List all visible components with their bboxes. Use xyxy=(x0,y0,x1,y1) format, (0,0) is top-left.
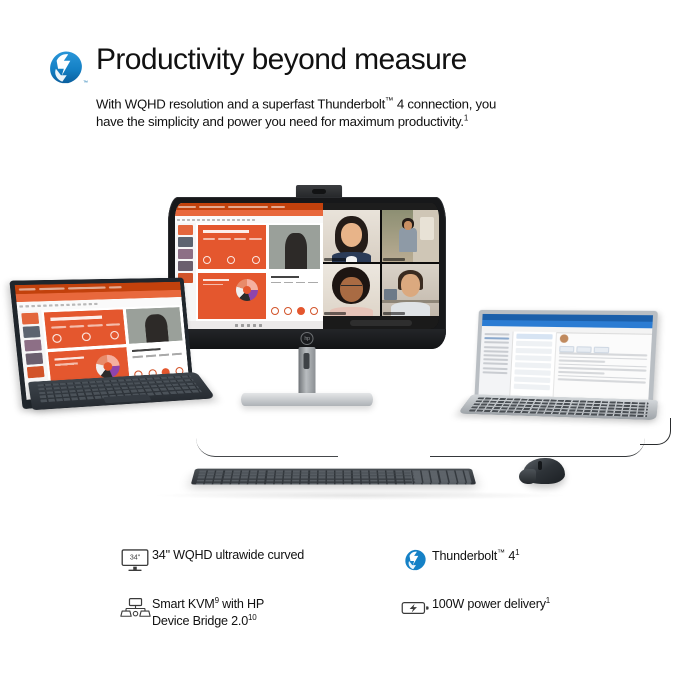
hp-logo: hp xyxy=(301,332,314,345)
feature-row: Smart KVM9 with HP Device Bridge 2.010 1… xyxy=(118,593,658,629)
slide-canvas xyxy=(198,225,320,319)
thunderbolt-logo-icon: ™ xyxy=(48,50,84,86)
monitor-shell: hp xyxy=(168,197,446,349)
curved-monitor: hp xyxy=(168,197,446,377)
slide-thumbnail xyxy=(178,225,193,235)
page-title: Productivity beyond measure xyxy=(96,44,467,75)
email-folder-pane xyxy=(478,331,513,401)
trademark-symbol: ™ xyxy=(385,95,394,105)
footnote-marker: 1 xyxy=(546,596,550,605)
dark-laptop: hp xyxy=(28,278,203,423)
app-title-bar xyxy=(175,203,323,210)
feature-item-smart-kvm: Smart KVM9 with HP Device Bridge 2.010 xyxy=(118,593,398,629)
footnote-marker: 1 xyxy=(464,114,468,123)
feature-label-part-2: with HP xyxy=(219,597,264,611)
feature-label-part-3: Device Bridge 2.0 xyxy=(152,614,248,628)
footnote-marker: 1 xyxy=(515,548,519,557)
monitor-screen xyxy=(175,203,439,329)
trademark-symbol: ™ xyxy=(497,548,505,557)
subheadline-part-3: have the simplicity and power you need f… xyxy=(96,114,464,129)
cable-desk-right xyxy=(430,438,645,457)
product-photo-stage: hp xyxy=(0,175,700,520)
participant-tile xyxy=(323,210,380,262)
feature-label-text: 100W power delivery xyxy=(432,597,546,611)
trademark-symbol: ™ xyxy=(83,80,88,86)
feature-label: 34" WQHD ultrawide curved xyxy=(152,545,304,563)
header: ™ Productivity beyond measure With WQHD … xyxy=(48,44,648,130)
footnote-marker: 10 xyxy=(248,613,257,622)
slide-block-icons xyxy=(269,273,320,319)
participant-tile xyxy=(323,264,380,316)
slide-thumbnail xyxy=(178,261,193,271)
participant-grid xyxy=(323,210,439,316)
feature-list: 34" 34" WQHD ultrawide curved Thunderbol… xyxy=(118,545,658,647)
donut-chart xyxy=(236,279,258,301)
silver-laptop xyxy=(468,310,658,430)
thunderbolt-icon xyxy=(398,545,432,575)
slide-thumbnail xyxy=(178,237,193,247)
subheadline-part-2: 4 connection, you xyxy=(394,96,497,111)
monitor-stand-base xyxy=(241,393,373,406)
slide-photo xyxy=(269,225,320,269)
feature-item-power-delivery: 100W power delivery1 xyxy=(398,593,648,629)
email-message-list xyxy=(510,332,557,403)
laptop-trackpad xyxy=(103,394,151,403)
feature-label-part-1: Smart KVM xyxy=(152,597,215,611)
laptop-screen xyxy=(478,314,653,408)
feature-label: Thunderbolt™ 41 xyxy=(432,545,519,565)
keyboard-numpad xyxy=(413,470,472,482)
feature-label-part-1: Thunderbolt xyxy=(432,549,497,563)
subheadline-part-1: With WQHD resolution and a superfast Thu… xyxy=(96,96,385,111)
feature-label: 100W power delivery1 xyxy=(432,593,550,613)
slide-block-headline xyxy=(198,225,266,269)
monitor-34-inch-icon: 34" xyxy=(118,545,152,575)
ground-shadow xyxy=(150,491,570,500)
feature-label: Smart KVM9 with HP Device Bridge 2.010 xyxy=(152,593,264,629)
feature-item-thunderbolt: Thunderbolt™ 41 xyxy=(398,545,648,575)
feature-label-part-2: 4 xyxy=(505,549,515,563)
wireless-keyboard xyxy=(191,469,476,485)
feature-item-34-wqhd: 34" 34" WQHD ultrawide curved xyxy=(118,545,398,575)
feature-row: 34" 34" WQHD ultrawide curved Thunderbol… xyxy=(118,545,658,575)
ergonomic-mouse xyxy=(519,458,567,489)
video-call-controls xyxy=(323,316,439,329)
video-conference-app xyxy=(323,203,439,329)
smart-kvm-icon xyxy=(118,593,152,623)
monitor-stand-neck xyxy=(299,347,316,395)
monitor-bottom-bezel: hp xyxy=(168,329,446,349)
sender-avatar xyxy=(559,334,568,343)
slide-block-chart xyxy=(198,273,266,319)
cable-desk-left xyxy=(196,438,338,457)
product-marketing-page: ™ Productivity beyond measure With WQHD … xyxy=(0,0,700,700)
participant-tile xyxy=(382,264,439,316)
mouse-scroll-wheel xyxy=(538,461,542,470)
battery-bolt-icon xyxy=(398,593,432,623)
slide-thumbnail xyxy=(178,249,193,259)
participant-tile xyxy=(382,210,439,262)
subheadline: With WQHD resolution and a superfast Thu… xyxy=(96,95,616,130)
laptop-keyboard-deck xyxy=(458,394,658,420)
monitor-size-label: 34" xyxy=(130,554,141,561)
